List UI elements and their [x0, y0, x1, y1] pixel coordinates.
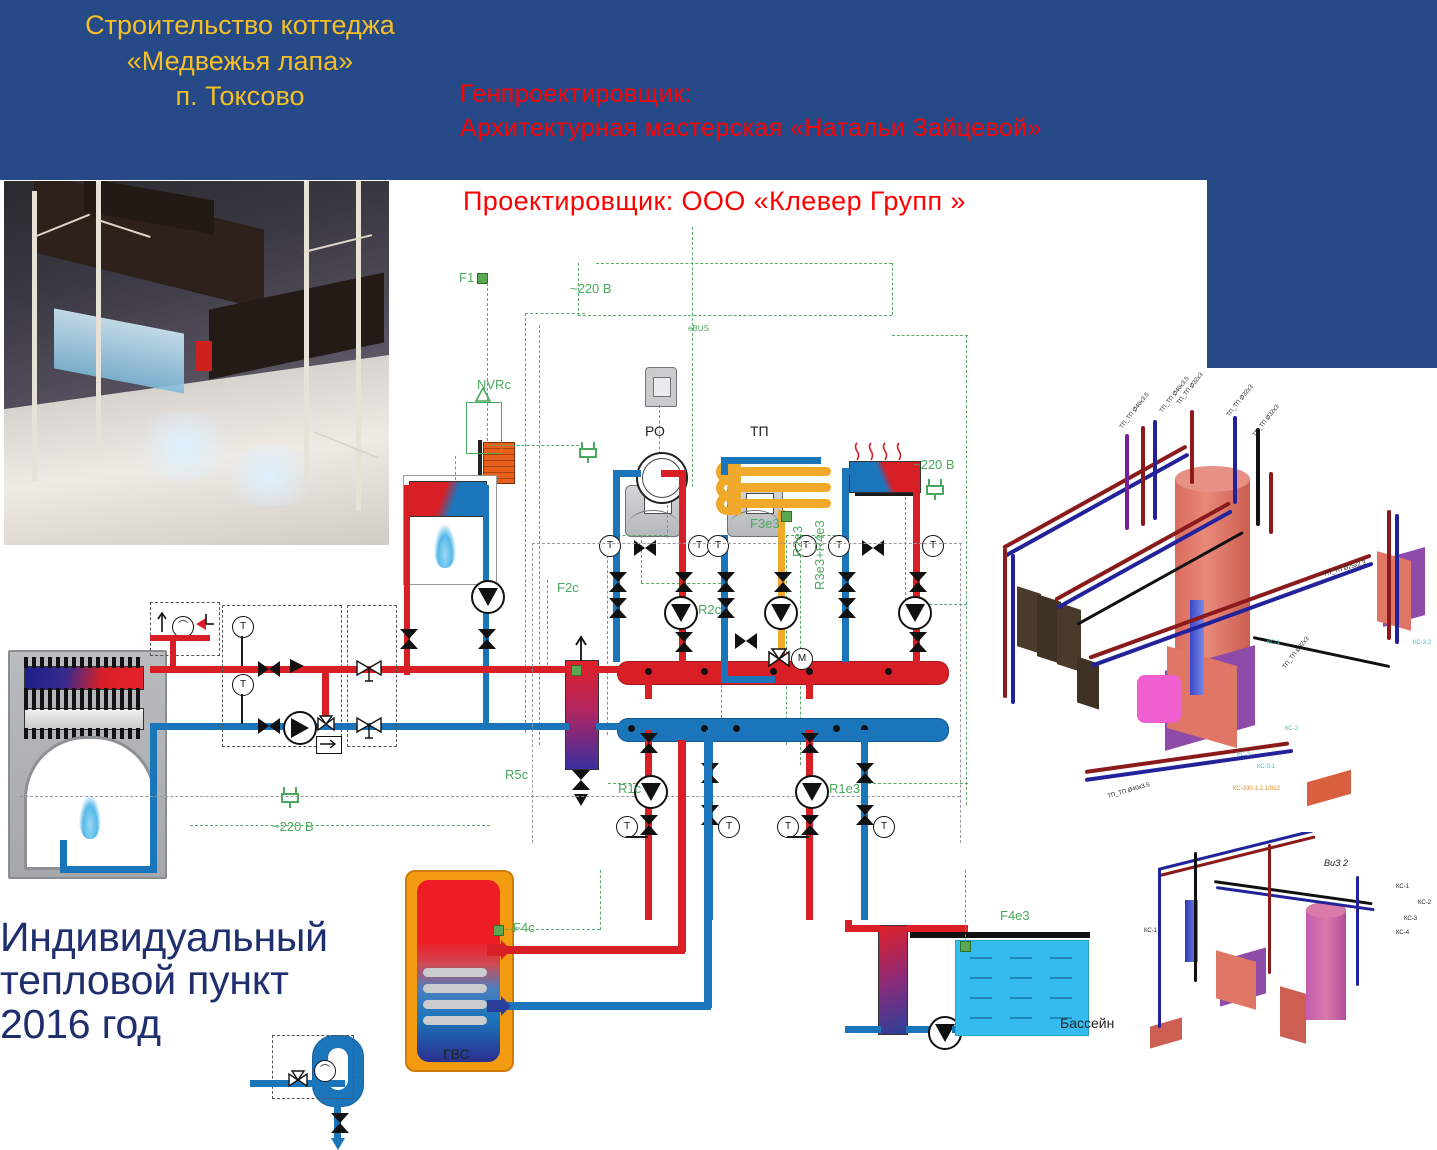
dhw-supply-up: [678, 740, 686, 952]
general-designer-label: Генпроектировщик:: [460, 78, 1042, 112]
tp-bypass-h: [721, 676, 775, 683]
render2-label-2: КС-2: [1418, 900, 1431, 906]
project-title-line-2: «Медвежья лапа»: [30, 44, 450, 80]
label-r1e3: R1e3: [829, 781, 860, 796]
render-label-4: ТП_ТП Ø32х3: [1226, 384, 1255, 418]
three-way-valve-expansion-icon: [286, 1068, 310, 1092]
check-valve-supply-icon: [290, 659, 310, 673]
valve-tp-b2: [717, 598, 735, 618]
render2-rail-3: [1214, 880, 1373, 905]
render2-label-vz: ВиЗ 2: [1324, 858, 1348, 868]
valve-wall-return: [478, 629, 496, 649]
pump-ro: [664, 596, 698, 630]
project-title: Строительство коттеджа «Медвежья лапа» п…: [30, 8, 450, 115]
pump-r1e3: [795, 775, 829, 809]
boiler-teeth-low: [24, 699, 142, 710]
pool-cover: [910, 932, 1090, 938]
temp-gauge-ro-1: T: [599, 535, 621, 557]
tg-stem-2: [241, 694, 243, 724]
label-f2c: F2c: [557, 580, 579, 595]
wall-boiler-ctrl: [455, 456, 456, 480]
valve-expansion-drain: [331, 1113, 349, 1133]
tp-bypass-pipe: [721, 630, 728, 682]
render-label-7: ТП_ТП Ø32х3: [1282, 636, 1311, 670]
boiler-teeth-top: [24, 657, 142, 668]
valve-tp-b3: [774, 572, 792, 592]
f2c-line-v: [547, 580, 548, 670]
temp-gauge-r1c: T: [616, 816, 638, 838]
boiler-flame-icon: [79, 795, 101, 839]
render-label-15: КС-330-1.2.1/012: [1233, 786, 1280, 792]
main-return-from-boilers: [404, 723, 569, 730]
temp-gauge-r1e3-ret: T: [873, 816, 895, 838]
ctrl-net-v3: [578, 263, 579, 316]
render-pipe-right-v: [1387, 510, 1391, 640]
render-pipe-riser-5: [1233, 416, 1237, 504]
r1c-ctrl-h: [608, 783, 636, 784]
dhw-return-up: [704, 740, 712, 1008]
render-pipe-red-1: [1002, 444, 1188, 549]
wall-boiler-header: [409, 481, 487, 517]
pool-heat-exchanger: [878, 925, 908, 1035]
ctrl-net-v6: [539, 325, 540, 745]
pool-water-line-5: [1010, 977, 1032, 979]
label-pool: Бассейн: [1060, 1015, 1114, 1031]
dhw-coil-2: [423, 984, 487, 993]
render2-label-3: КС-3: [1404, 916, 1417, 922]
f3e3-sensor-dot: [781, 511, 792, 522]
render-pipe-riser-3: [1153, 420, 1157, 520]
label-220v-top: ~220 В: [570, 281, 612, 296]
valve-ro-b2: [609, 598, 627, 618]
pool-water-line-4: [970, 977, 992, 979]
manifold-node-4: [806, 668, 813, 675]
valve-right-b4: [909, 632, 927, 652]
render-pipe-left-loop: [1003, 548, 1007, 698]
render2-riser-4: [1356, 876, 1359, 986]
tg-stem-1: [241, 636, 243, 666]
tp-supply-riser: [721, 457, 728, 467]
pool-water-line-1: [970, 957, 992, 959]
label-f4c: F4c: [513, 920, 535, 935]
render2-rail-1: [1158, 832, 1314, 871]
temp-gauge-boiler-return: T: [232, 674, 254, 696]
valve-wall-supply: [400, 629, 418, 649]
render-right-boiler-front: [1377, 551, 1411, 631]
r1e3-return-riser: [861, 730, 868, 920]
boiler-teeth-mid: [24, 688, 142, 699]
boiler-return-drop: [150, 723, 157, 873]
floor-coil-bend-left: [715, 460, 741, 516]
ctrl-net-v11: [786, 535, 787, 745]
ctrl-net-h4: [525, 313, 585, 314]
render2-riser-3: [1268, 844, 1271, 974]
floor-coil-seg-2: [727, 483, 831, 492]
dhw-tank-inner: [417, 880, 500, 1062]
render-pipe-right-v2: [1395, 514, 1399, 644]
radiator-unit-right: [849, 461, 921, 493]
radiator-valve-bar: [855, 493, 913, 496]
radiator-heat-waves-icon: [851, 442, 913, 462]
label-220v-right: ~220 В: [913, 457, 955, 472]
safety-valve-icon: [194, 610, 216, 632]
bypass-red: [322, 666, 329, 718]
right-return-riser: [842, 468, 849, 662]
render-label-8: ТП_ТП Ø40х3.5: [1107, 782, 1151, 800]
temp-gauge-r1c-ret: T: [718, 816, 740, 838]
valve-r1c-bot: [640, 815, 658, 835]
ctrl-net-h1: [487, 445, 579, 446]
expansion-gauge: ⌒: [314, 1060, 336, 1082]
boiler-heat-bar: [24, 666, 144, 690]
pool-water-line-9: [1050, 997, 1072, 999]
floor-coil-seg-3: [727, 499, 831, 508]
f4c-line-v: [600, 870, 601, 930]
ctrl-net-v7: [607, 535, 608, 735]
label-f3e3: F3e3: [750, 516, 780, 531]
render2-label-4: КС-4: [1396, 930, 1409, 936]
valve-boiler-return: [258, 718, 280, 734]
project-title-line-1: Строительство коттеджа: [30, 8, 450, 44]
boiler-return-in: [60, 840, 67, 870]
ro-return-riser: [613, 470, 620, 662]
caption-line-3: 2016 год: [0, 1003, 370, 1046]
dhw-storage-tank: [405, 870, 514, 1072]
boiler-return-bottom: [60, 866, 157, 873]
hydraulic-separator: [565, 660, 599, 770]
ctrl-net-h3: [578, 315, 892, 316]
temp-gauge-boiler-supply: T: [232, 616, 254, 638]
pool-water-line-6: [1050, 977, 1072, 979]
main-supply-from-boilers: [404, 666, 569, 673]
render-pink-vessel: [1137, 675, 1181, 723]
itp-3d-isometric-secondary-render: ВиЗ 2 КС-1 КС-2 КС-3 КС-4 КС-1: [1128, 832, 1437, 1073]
manifold-node-6: [628, 725, 635, 732]
render2-riser-1: [1158, 868, 1161, 1028]
render2-label-5: КС-1: [1144, 928, 1157, 934]
ctrl-net-v4: [692, 227, 693, 487]
manifold-node-9: [833, 725, 840, 732]
pump-boiler-circuit: [283, 711, 317, 745]
pump-controller-box: [316, 736, 342, 754]
label-ro: РО: [645, 423, 665, 439]
valve-r1e3-ret-2: [856, 805, 874, 825]
temp-gauge-r1e3: T: [777, 816, 799, 838]
nvrc-body: [466, 402, 502, 454]
render-label-9: КС-1: [1267, 640, 1280, 646]
balancing-valve-supply-icon: [355, 657, 387, 683]
f2c-sensor-dot: [571, 665, 582, 676]
pump-wall-boiler: [471, 580, 505, 614]
render-label-11: КС-3: [1237, 752, 1250, 758]
valve-r1e3-bot: [801, 815, 819, 835]
render2-pump-unit: [1150, 1017, 1182, 1048]
valve-boiler-supply: [258, 661, 280, 677]
air-vent-icon: [155, 612, 169, 632]
dhw-coil-4: [423, 1016, 487, 1025]
ctrl-net-v15: [905, 477, 906, 605]
outdoor-temperature-sensor-icon: [645, 367, 677, 407]
f4c-line-h: [500, 929, 600, 930]
pool-water-line-10: [970, 1017, 992, 1019]
dhw-coil-1: [423, 968, 487, 977]
tp-supply-top-h: [721, 457, 821, 464]
temp-gauge-right-2: T: [922, 535, 944, 557]
render-buffer-tank-top: [1175, 466, 1250, 492]
separator-to-supply-manifold: [596, 666, 620, 673]
dhw-return-pipe: [505, 1002, 711, 1010]
boiler-exchanger-bar: [24, 708, 144, 730]
boiler-combustion-chamber: [24, 736, 156, 870]
caption-line-1: Индивидуальный: [0, 916, 370, 959]
pool-water-line-7: [970, 997, 992, 999]
actuator-tp-motor: M: [791, 648, 813, 670]
separator-to-return-manifold: [596, 723, 620, 730]
ctrl-net-v2: [892, 263, 893, 315]
three-way-valve-boiler-icon: [316, 714, 336, 734]
underfloor-heating-loop: [727, 467, 831, 511]
manifold-node-5: [885, 668, 892, 675]
valve-ro-b1: [609, 572, 627, 592]
valve-separator-drain-1: [572, 770, 590, 790]
plug-icon-right: [925, 477, 945, 501]
slide-root: Строительство коттеджа «Медвежья лапа» п…: [0, 0, 1437, 1073]
valve-right-b3: [909, 572, 927, 592]
render-label-13: КС-3.2: [1413, 640, 1431, 646]
valve-tp-b1: [717, 572, 735, 592]
label-r3e3-r4e3: R3e3+R4e3: [812, 520, 827, 590]
render2-label-1: КС-1: [1396, 884, 1409, 890]
label-f1: F1: [459, 270, 474, 285]
valve-tp-bypass: [735, 633, 757, 649]
floor-standing-boiler: [8, 650, 167, 879]
valve-r1e3-ret-1: [856, 763, 874, 783]
zone-box-right: [960, 543, 961, 843]
valve-ro-b3: [675, 572, 693, 592]
f4e3-sensor-dot: [960, 941, 971, 952]
pool-from-basin: [906, 925, 968, 932]
caption-line-2: тепловой пункт: [0, 959, 370, 1002]
ro-supply-top: [661, 470, 686, 477]
expansion-drain-arrow: [331, 1138, 345, 1150]
label-r5c: R5c: [505, 767, 528, 782]
dhw-coil-3: [423, 1000, 487, 1009]
dhw-return-connector: [487, 996, 513, 1016]
pool-water-line-11: [1010, 1017, 1032, 1019]
render-label-12: КС-3.1: [1257, 764, 1275, 770]
manifold-node-8: [733, 725, 740, 732]
dhw-supply-pipe: [505, 946, 685, 954]
plug-icon-left: [280, 785, 300, 809]
manifold-node-1: [645, 668, 652, 675]
f4c-sensor-dot: [493, 925, 504, 936]
valve-r1c-top: [640, 733, 658, 753]
render-label-1: ТП_ТП Ø40х3.5: [1119, 392, 1151, 430]
general-designer-block: Генпроектировщик: Архитектурная мастерск…: [460, 78, 1042, 146]
label-gvs: ГВС: [443, 1046, 470, 1062]
render-pipe-riser-1: [1125, 434, 1129, 530]
return-manifold: [617, 718, 949, 742]
pool-water-line-3: [1050, 957, 1072, 959]
nvrc-arrow-icon: [474, 388, 492, 404]
plug-icon-top: [578, 440, 598, 464]
render-pipe-riser-2: [1141, 426, 1145, 526]
zone-box-left: [532, 543, 533, 843]
valve-r1e3-top: [801, 733, 819, 753]
f4e3-line-v: [965, 870, 966, 942]
pool-water-line-2: [1010, 957, 1032, 959]
render2-vessel: [1280, 986, 1306, 1043]
ctrl-net-h2: [596, 263, 892, 264]
render-pipe-riser-6: [1256, 428, 1260, 526]
render2-rail-2: [1160, 835, 1316, 877]
pump-right-circuit: [898, 596, 932, 630]
pool-hx-supply-v: [845, 920, 852, 932]
render2-tank: [1306, 910, 1346, 1020]
label-tp: ТП: [750, 423, 769, 439]
wall-boiler-flame-icon: [434, 524, 456, 568]
render2-riser-2: [1194, 852, 1197, 982]
three-way-mixing-valve-tp-icon: [766, 646, 792, 672]
tg-stem-r1c: [626, 836, 648, 838]
floor-coil-seg-1: [727, 467, 831, 476]
label-220v-left: ~220 В: [272, 819, 314, 834]
logo-frame: NS maket: [1207, 178, 1437, 390]
r1e3-ctrl-h: [868, 783, 968, 784]
render-label-10: КС-2: [1285, 726, 1298, 732]
safety-group-pipe-h: [150, 635, 210, 641]
plug-left-line: [190, 825, 490, 826]
ctrl-net-v14: [966, 335, 967, 805]
valve-ro-b4: [675, 632, 693, 652]
pool-water-line-8: [1010, 997, 1032, 999]
render-pipe-riser-4: [1190, 410, 1194, 484]
project-title-line-3: п. Токсово: [30, 79, 450, 115]
r1e3-supply-drop: [806, 675, 813, 699]
render-pipe-riser-7: [1269, 472, 1273, 534]
ctrl-net-h8: [892, 335, 968, 336]
general-designer-name: Архитектурная мастерская «Натальи Зайцев…: [460, 112, 1042, 146]
render-pipe-left-loop-2: [1011, 554, 1015, 704]
right-return-top: [842, 468, 854, 475]
itp-3d-isometric-piping-render: ТП_ТП Ø40х3.5 ТП_ТП Ø40х3.5 ТП_ТП Ø32х3 …: [985, 368, 1437, 828]
ctrl-net-v1: [487, 283, 488, 446]
label-f4e3: F4e3: [1000, 908, 1030, 923]
pool-hx-return: [845, 1026, 881, 1033]
slide-caption: Индивидуальный тепловой пункт 2016 год: [0, 916, 370, 1046]
zone-divider-top: [532, 543, 962, 544]
valve-right-b2: [838, 598, 856, 618]
dhw-supply-connector: [487, 940, 513, 960]
render-label-5: ТП_ТП Ø32х3: [1252, 404, 1281, 438]
temp-gauge-right-1: T: [828, 535, 850, 557]
render-pump-unit: [1307, 770, 1351, 807]
label-r2e3: R2e3: [790, 526, 805, 557]
temp-gauge-tp-1: T: [707, 535, 729, 557]
r1c-supply-drop: [645, 675, 652, 699]
ro-return-top: [613, 470, 641, 477]
manifold-node-2: [701, 668, 708, 675]
valve-right-b1: [838, 572, 856, 592]
wall-return-to-main: [483, 670, 489, 730]
tg-stem-r1e3: [787, 836, 809, 838]
separator-air-vent-icon: [572, 635, 590, 661]
pump-tp: [764, 596, 798, 630]
balancing-valve-return-icon: [355, 714, 387, 740]
